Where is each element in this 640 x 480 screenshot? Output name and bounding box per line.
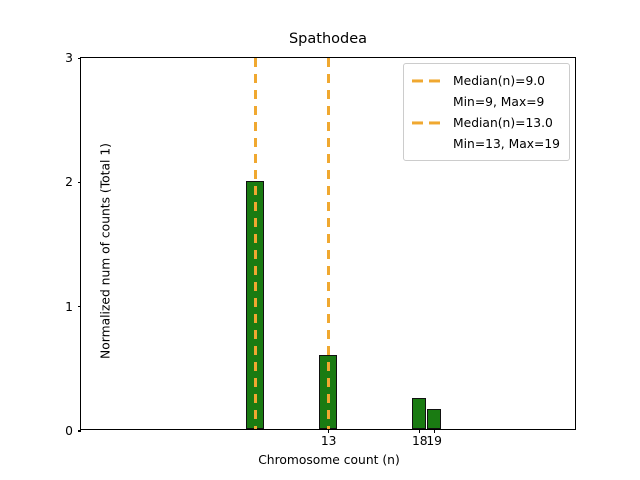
legend-entry-3: Min=13, Max=19 [411, 133, 560, 154]
blank-swatch-icon [411, 91, 444, 112]
chart-figure: Spathodea Normalized num of counts (Tota… [0, 0, 640, 480]
bar-18 [412, 398, 426, 429]
dashed-line-icon [411, 112, 444, 133]
x-tick-mark-19 [434, 429, 435, 433]
median-line-9 [254, 58, 257, 429]
bar-19 [427, 409, 441, 429]
x-tick-mark-13 [328, 429, 329, 433]
x-axis-label: Chromosome count (n) [81, 453, 577, 467]
legend-label-3: Min=13, Max=19 [453, 137, 560, 151]
blank-swatch-icon [411, 133, 444, 154]
y-tick-label-1: 1 [21, 300, 81, 314]
legend-label-2: Median(n)=13.0 [453, 116, 553, 130]
chart-legend: Median(n)=9.0 Min=9, Max=9 Median(n)=13.… [403, 63, 570, 161]
x-tick-label-13: 13 [299, 434, 359, 448]
legend-label-0: Median(n)=9.0 [453, 74, 545, 88]
y-tick-label-0: 0 [21, 424, 81, 438]
chart-title: Spathodea [80, 30, 576, 48]
legend-entry-1: Min=9, Max=9 [411, 91, 560, 112]
x-tick-label-19: 19 [404, 434, 464, 448]
y-tick-label-3: 3 [21, 51, 81, 65]
x-tick-mark-18 [419, 429, 420, 433]
dashed-line-icon [411, 70, 444, 91]
y-tick-label-2: 2 [21, 175, 81, 189]
median-line-13 [327, 58, 330, 429]
plot-area: Normalized num of counts (Total 1) 0 1 2… [80, 57, 576, 430]
legend-entry-2: Median(n)=13.0 [411, 112, 560, 133]
legend-entry-0: Median(n)=9.0 [411, 70, 560, 91]
legend-label-1: Min=9, Max=9 [453, 95, 544, 109]
